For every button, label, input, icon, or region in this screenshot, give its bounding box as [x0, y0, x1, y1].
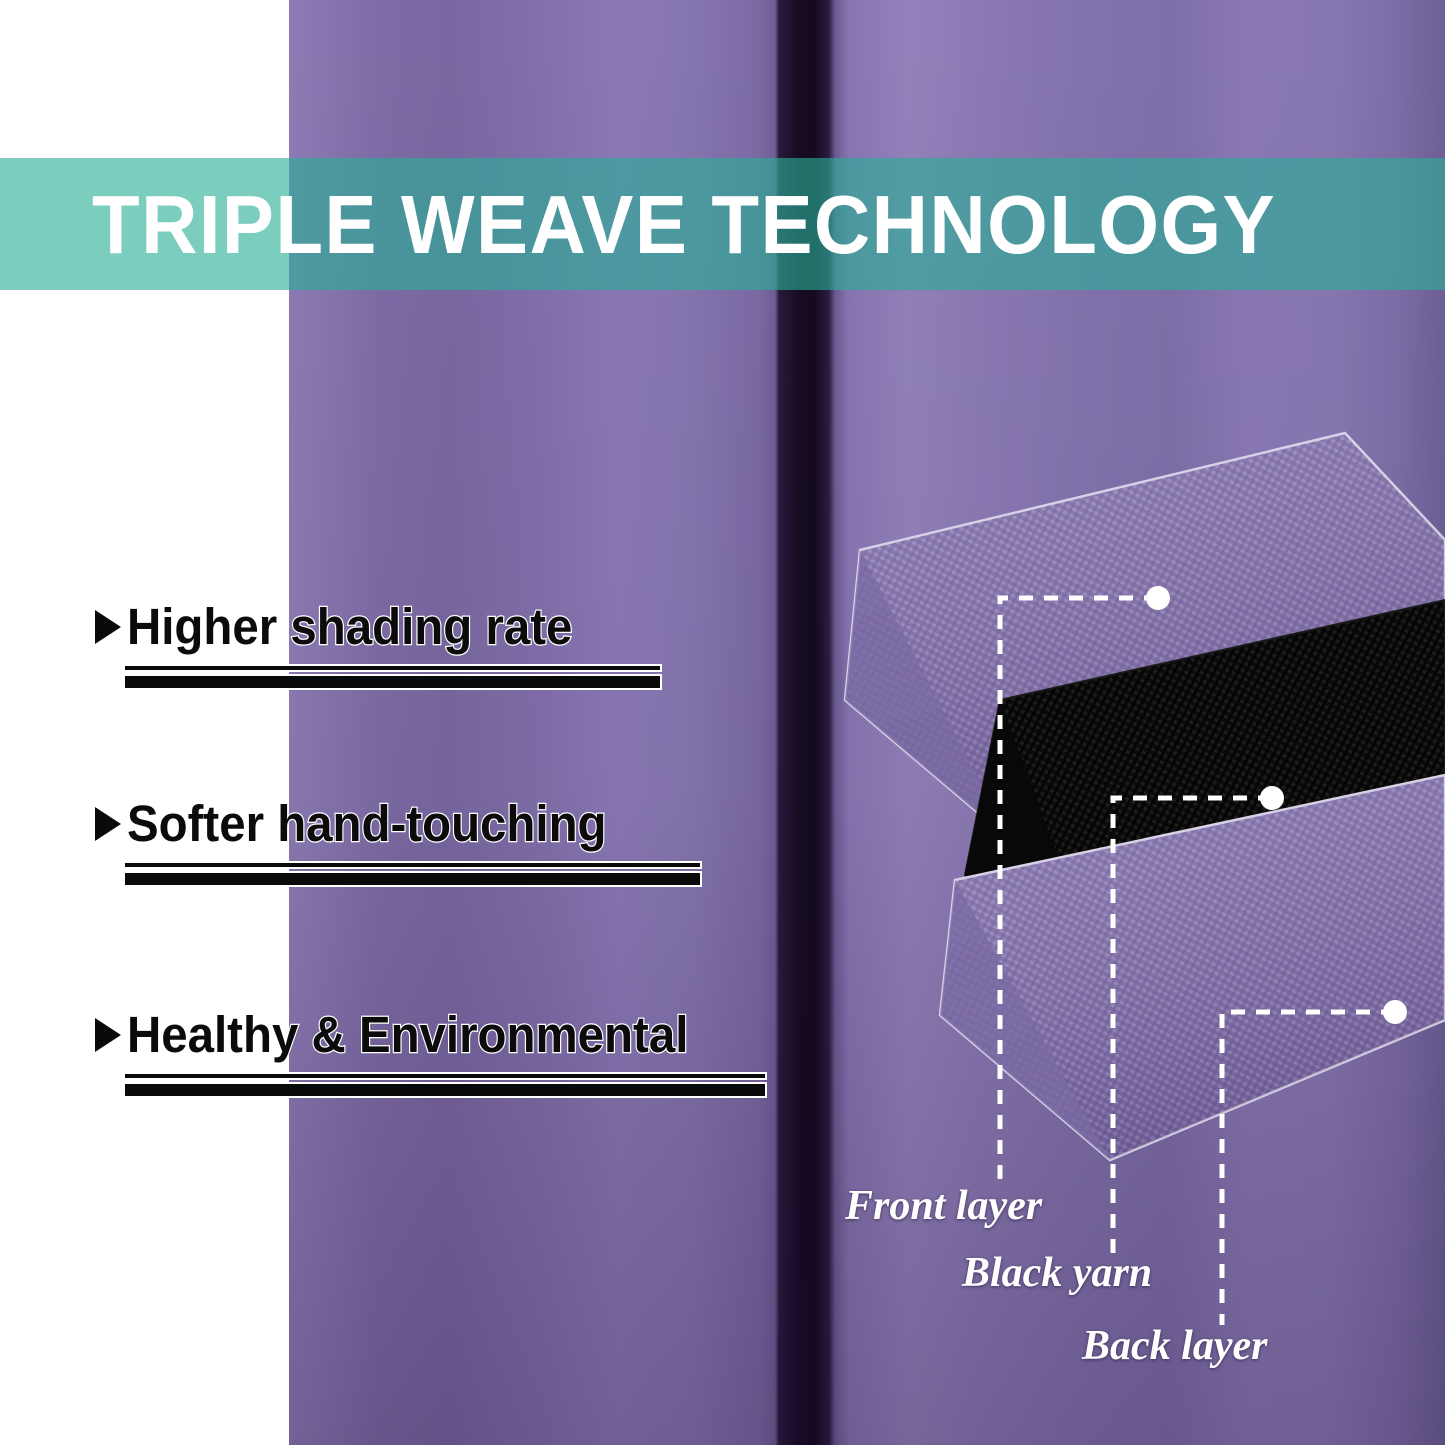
feature-item-1: Higher shading rate	[95, 600, 606, 654]
feature-list: Higher shading rate Softer hand-touching…	[0, 0, 830, 1445]
feature-label-2: Softer hand-touching	[127, 797, 607, 851]
callout-label-front-layer: Front layer	[845, 1185, 1042, 1227]
feature-item-2: Softer hand-touching	[95, 797, 643, 851]
feature-label-1: Higher shading rate	[127, 600, 572, 654]
feature-label-3: Healthy & Environmental	[127, 1008, 688, 1062]
triangle-bullet-icon	[95, 807, 121, 841]
feature-item-3: Healthy & Environmental	[95, 1008, 731, 1062]
callout-label-back-layer: Back layer	[1082, 1325, 1267, 1367]
feature-underline-2	[125, 863, 700, 885]
triangle-bullet-icon	[95, 610, 121, 644]
callout-label-black-yarn: Black yarn	[962, 1252, 1152, 1294]
feature-underline-1	[125, 666, 660, 688]
feature-underline-3	[125, 1074, 765, 1096]
product-infographic: Front layer Black yarn Back layer TRIPLE…	[0, 0, 1445, 1445]
triangle-bullet-icon	[95, 1018, 121, 1052]
